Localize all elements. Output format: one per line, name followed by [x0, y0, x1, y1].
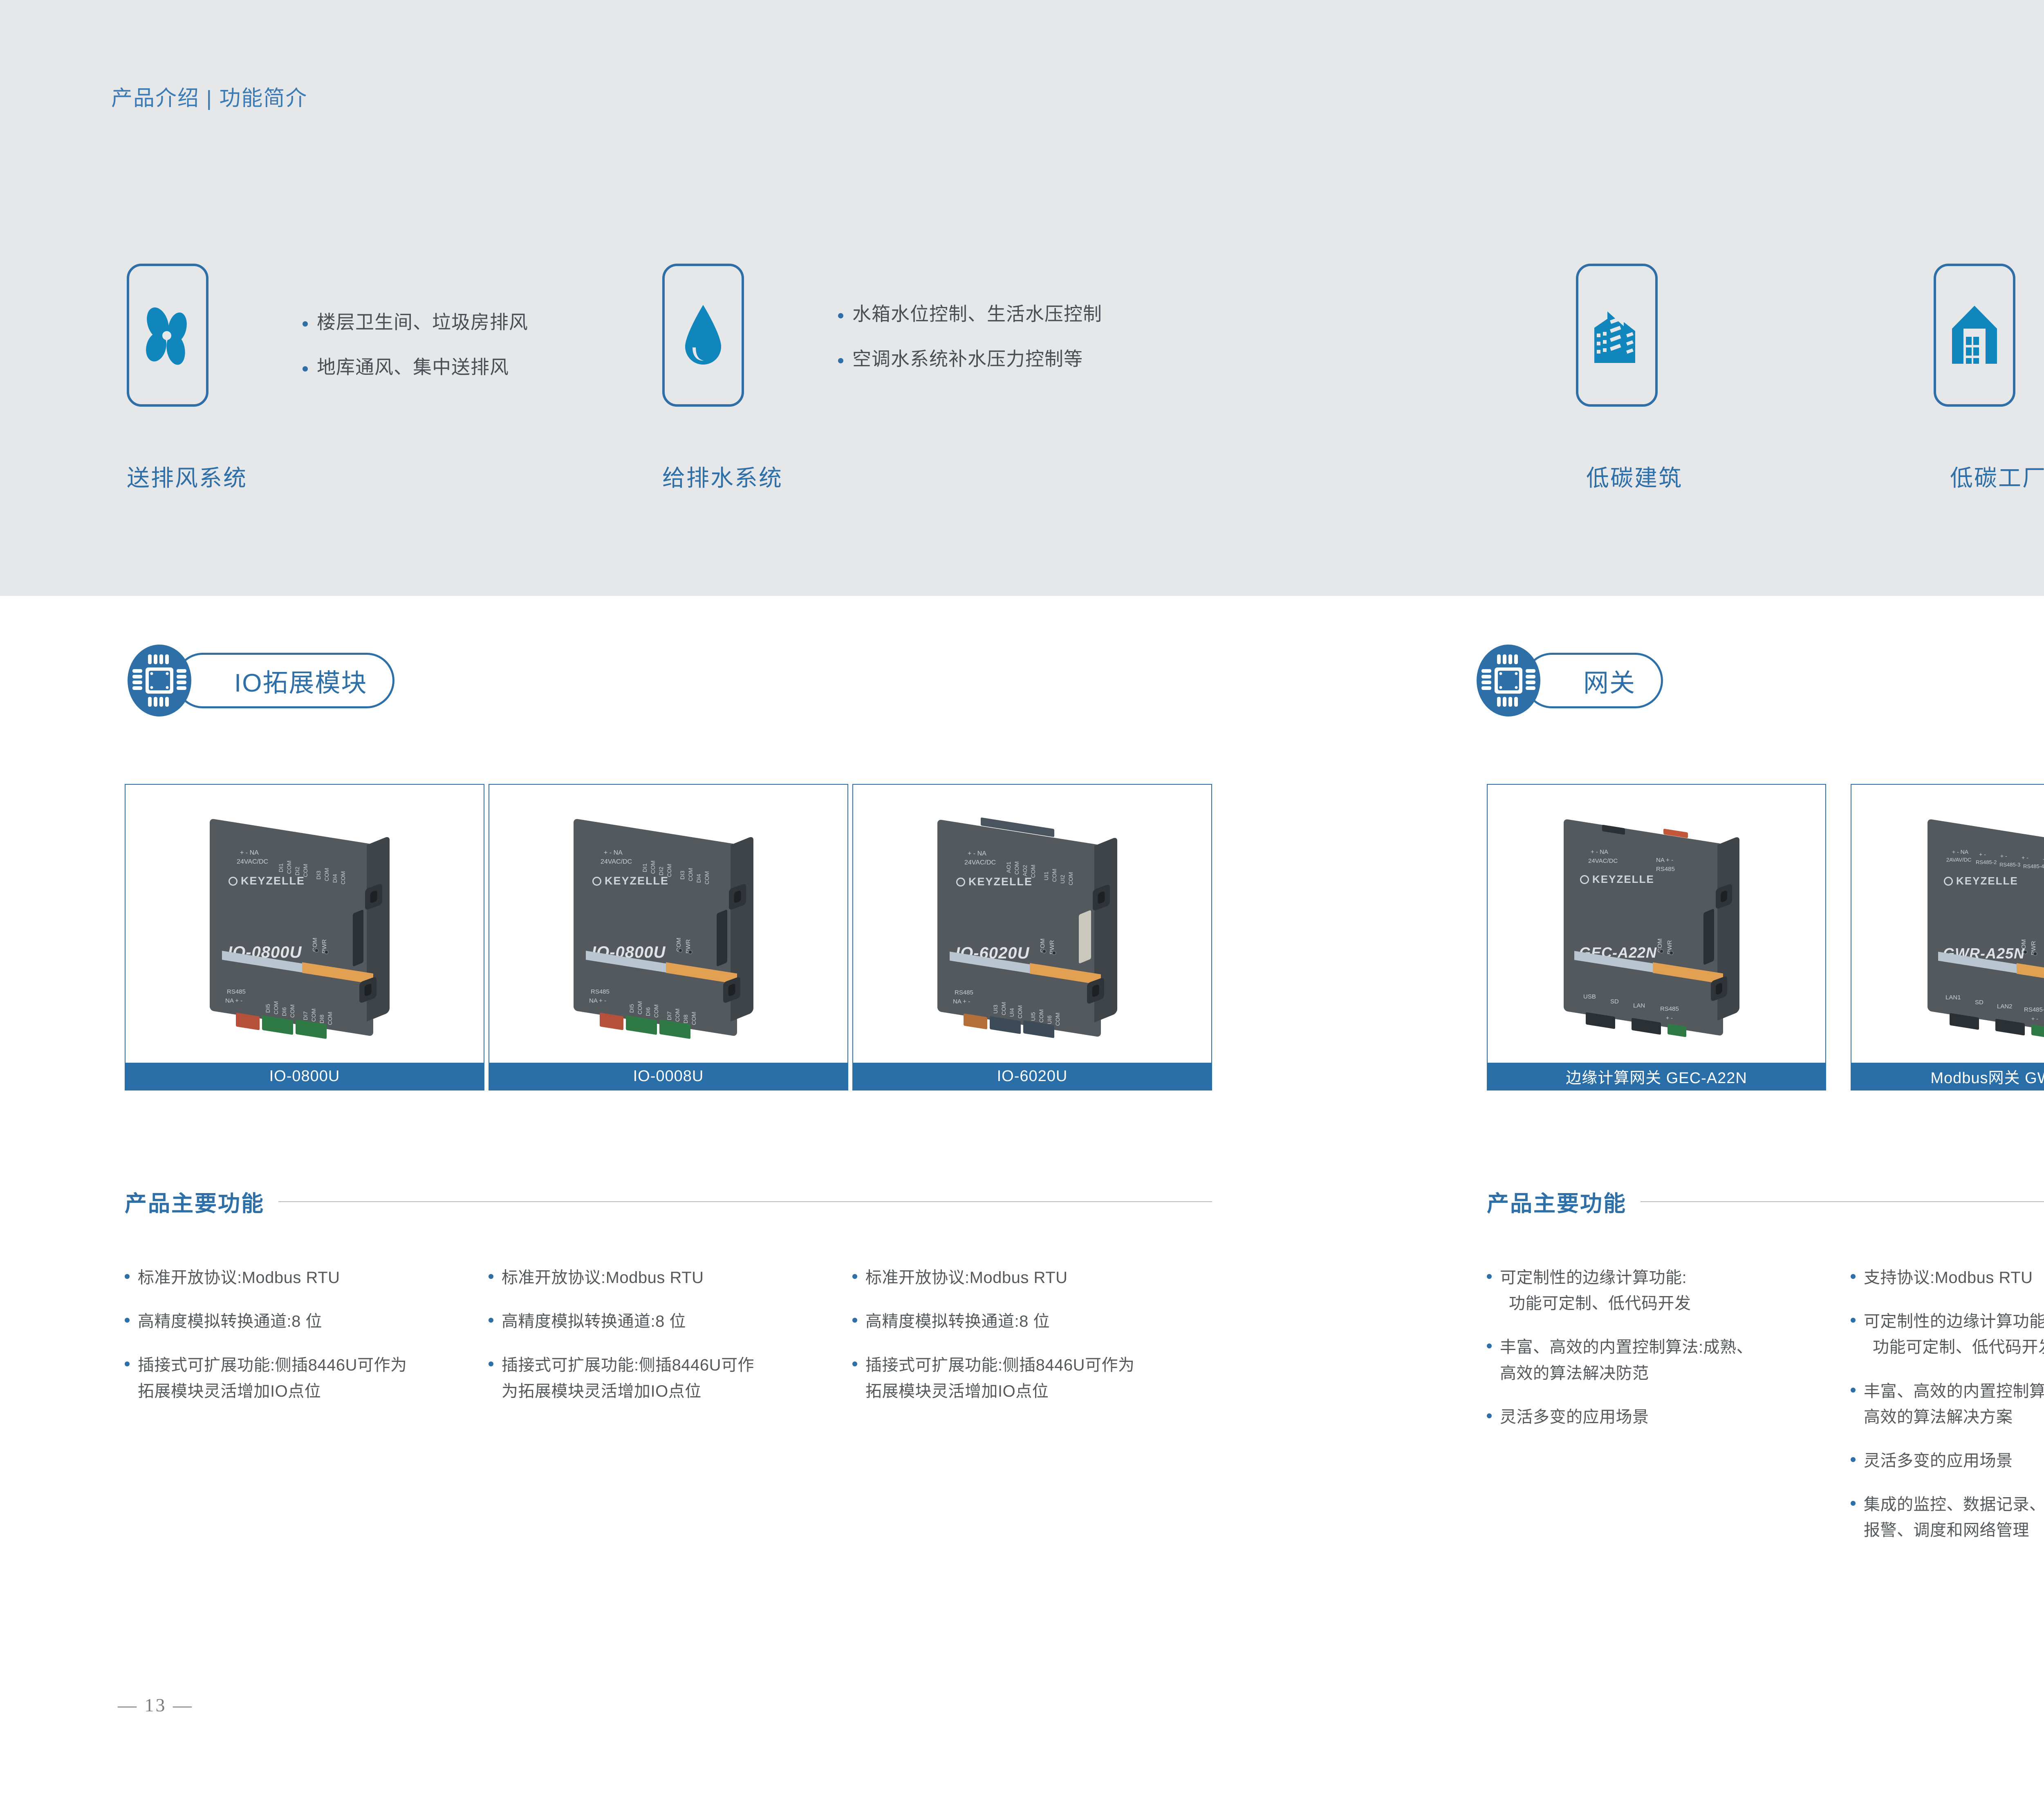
terminal-label: COM: [323, 868, 330, 881]
factory-icon: [1948, 302, 2001, 368]
terminal-label: DI7: [666, 1011, 672, 1020]
terminal-label: DI7: [302, 1011, 309, 1020]
section-title-io: IO拓展模块: [234, 662, 367, 699]
port-label-lan2: LAN2: [1997, 1003, 2013, 1010]
rs485-label-top: RS485: [1656, 866, 1675, 873]
rs485-pins: NA + -: [589, 997, 606, 1004]
bullet-text: 空调水系统补水压力控制等: [852, 347, 1083, 371]
terminal-label: AO1: [1005, 862, 1012, 873]
terminal-label: COM: [289, 1004, 296, 1018]
power-terminal-label: + - NA: [1952, 849, 1968, 855]
power-voltage-label: 24VAC/DC: [237, 858, 268, 866]
led-com: [1659, 949, 1664, 954]
bullet-dot: [125, 1361, 130, 1366]
feature-item: 标准开放协议:Modbus RTU: [852, 1265, 1196, 1291]
office-building-icon: [1586, 302, 1647, 368]
feature-item: 灵活多变的应用场景: [1851, 1448, 2044, 1474]
power-voltage-label: 24VAC/DC: [601, 858, 632, 866]
feature-line: 可定制性的边缘计算功能:: [1500, 1265, 1691, 1291]
product-photo-gec-a22n: KEYZELLE + - NA 24VAC/DC NA + - RS485 GE…: [1488, 785, 1825, 1063]
feature-item: 丰富、高效的内置控制算法:成熟、 高效的算法解决方案: [1851, 1379, 2044, 1430]
device-brand: KEYZELLE: [1580, 873, 1654, 886]
port-label-lan: LAN: [1633, 1002, 1645, 1009]
terminal-label: AO2: [1022, 865, 1028, 876]
product-label-bar: Modbus网关 GWR-A25N: [1851, 1063, 2044, 1090]
terminal-label: COM: [674, 1008, 681, 1022]
bullet-text: 楼层卫生间、垃圾房排风: [317, 311, 528, 334]
device-brand: KEYZELLE: [229, 875, 305, 887]
bullet-dot: [852, 1274, 857, 1279]
feature-column: 支持协议:Modbus RTU 可定制性的边缘计算功能: 功能可定制、低代码开发…: [1851, 1265, 2044, 1562]
product-label: 边缘计算网关 GEC-A22N: [1566, 1065, 1747, 1088]
feature-item: 标准开放协议:Modbus RTU: [125, 1265, 468, 1291]
page-number-left: — 13 —: [118, 1694, 193, 1716]
feature-column: 标准开放协议:Modbus RTU 高精度模拟转换通道:8 位 插接式可扩展功能…: [852, 1265, 1196, 1422]
running-head-left: 产品介绍 | 功能简介: [111, 81, 307, 112]
bullet-dot: [838, 358, 843, 363]
product-label: Modbus网关 GWR-A25N: [1930, 1065, 2044, 1088]
feature-item: 插接式可扩展功能:侧插8446U可作 为拓展模块灵活增加IO点位: [489, 1352, 832, 1404]
terminal-label: COM: [273, 1001, 279, 1014]
side-slot: [717, 909, 727, 967]
feature-item: 灵活多变的应用场景: [1487, 1404, 1830, 1430]
connector-green: [2031, 1024, 2044, 1038]
port-label-sd: SD: [1975, 999, 1983, 1006]
product-photo-io-0800u: KEYZELLE + - NA 24VAC/DC DI1 COM DI2 COM…: [126, 785, 484, 1063]
terminal-label: COM: [310, 1008, 317, 1022]
terminal-label: COM: [327, 1012, 333, 1025]
side-slot: [353, 909, 363, 967]
water-bullet-list: 水箱水位控制、生活水压控制 空调水系统补水压力控制等: [838, 302, 1102, 392]
rs485-4-pins: + -: [2022, 854, 2028, 861]
feature-column: 可定制性的边缘计算功能: 功能可定制、低代码开发 丰富、高效的内置控制算法:成熟…: [1487, 1265, 1830, 1448]
list-item: 楼层卫生间、垃圾房排风: [303, 311, 528, 334]
led-pwr: [324, 950, 329, 954]
port-label-rs485: RS485: [1660, 1005, 1679, 1012]
heading-rule: [1641, 1201, 2044, 1202]
feature-line: 丰富、高效的内置控制算法:成熟、: [1500, 1335, 1753, 1360]
terminal-label: DI1: [278, 863, 284, 872]
port-pins-rs485: + -: [1666, 1014, 1673, 1021]
feature-line: 高效的算法解决方案: [1864, 1404, 2044, 1430]
feature-item: 高精度模拟转换通道:8 位: [852, 1309, 1196, 1335]
rs485-pins: NA + -: [225, 997, 242, 1004]
device-brand: KEYZELLE: [592, 875, 669, 887]
terminal-label: UI5: [1030, 1012, 1036, 1021]
feature-item: 高精度模拟转换通道:8 位: [489, 1309, 832, 1335]
water-drop-icon: [679, 302, 728, 368]
terminal-label: DI2: [294, 867, 300, 875]
rs485-3-label: RS485-3: [1999, 862, 2020, 868]
bullet-dot: [1487, 1413, 1492, 1418]
rs485-4-label: RS485-4: [2023, 863, 2044, 869]
bullet-dot: [303, 366, 308, 372]
feature-line: 丰富、高效的内置控制算法:成熟、: [1864, 1379, 2044, 1404]
factory-icon-frame: [1934, 264, 2015, 407]
rs485-pins: NA + -: [953, 998, 970, 1005]
bullet-dot: [1851, 1274, 1856, 1279]
led-com: [314, 948, 319, 953]
office-building-icon-frame: [1576, 264, 1658, 407]
feature-line: 高精度模拟转换通道:8 位: [502, 1309, 686, 1335]
terminal-label: COM: [302, 864, 309, 877]
terminal-label: COM: [666, 864, 672, 877]
product-label-bar: IO-6020U: [853, 1063, 1211, 1090]
terminal-label: DI1: [641, 863, 648, 872]
rs485-2-pins: + -: [1979, 851, 1986, 858]
led-pwr: [1669, 951, 1674, 955]
rs485-label: RS485: [227, 988, 246, 995]
feature-item: 高精度模拟转换通道:8 位: [125, 1309, 468, 1335]
rs485-label: RS485: [591, 988, 610, 995]
terminal-label: COM: [637, 1001, 643, 1014]
terminal-label: UI4: [1009, 1008, 1015, 1017]
fan-icon-frame: [127, 264, 208, 407]
led-pwr: [2033, 952, 2037, 956]
terminal-label: UI1: [1043, 871, 1049, 880]
terminal-label: COM: [653, 1004, 659, 1018]
product-label: IO-0008U: [633, 1068, 704, 1085]
features-title: 产品主要功能: [1487, 1185, 1627, 1218]
list-item: 空调水系统补水压力控制等: [838, 347, 1102, 371]
terminal-label: DI3: [679, 871, 686, 880]
led-com: [678, 948, 683, 953]
section-title-gateway: 网关: [1583, 662, 1636, 699]
ventilation-caption: 送排风系统: [127, 460, 247, 493]
terminal-label: COM: [340, 871, 346, 884]
bullet-dot: [1851, 1457, 1856, 1462]
rs485-3-pins: + -: [2000, 853, 2007, 859]
bullet-dot: [1487, 1343, 1492, 1348]
terminal-label: DI2: [658, 867, 664, 875]
feature-column: 标准开放协议:Modbus RTU 高精度模拟转换通道:8 位 插接式可扩展功能…: [489, 1265, 832, 1422]
feature-column: 标准开放协议:Modbus RTU 高精度模拟转换通道:8 位 插接式可扩展功能…: [125, 1265, 468, 1422]
terminal-label: DI5: [628, 1004, 635, 1013]
terminal-label: DI8: [318, 1014, 325, 1023]
feature-line: 插接式可扩展功能:侧插8446U可作为: [865, 1352, 1134, 1378]
bullet-dot: [125, 1318, 130, 1323]
fan-icon: [140, 305, 195, 366]
feature-line: 可定制性的边缘计算功能:: [1864, 1309, 2044, 1335]
product-card[interactable]: KEYZELLE + - NA 24VAC/DC DI1 COM DI2 COM…: [125, 784, 484, 1090]
product-label-bar: IO-0800U: [126, 1063, 484, 1090]
feature-line: 高精度模拟转换通道:8 位: [865, 1309, 1050, 1335]
product-card[interactable]: KEYZELLE + - NA + - + - + - + - 2AVAV/DC…: [1851, 784, 2044, 1090]
feature-line: 插接式可扩展功能:侧插8446U可作: [502, 1352, 754, 1378]
feature-line: 支持协议:Modbus RTU: [1864, 1265, 2033, 1291]
bullet-dot: [303, 321, 308, 327]
features-heading-gateway: 产品主要功能: [1487, 1185, 2044, 1218]
bullet-dot: [489, 1318, 493, 1323]
terminal-label: COM: [650, 860, 656, 874]
feature-line: 功能可定制、低代码开发: [1864, 1335, 2044, 1360]
bullet-text: 水箱水位控制、生活水压控制: [852, 302, 1102, 326]
rs485-pins-top: NA + -: [1656, 857, 1673, 864]
section-badge-gateway: 网关: [1476, 644, 1705, 717]
led-pwr: [1052, 951, 1056, 955]
feature-item: 标准开放协议:Modbus RTU: [489, 1265, 832, 1291]
terminal-label: COM: [1017, 1005, 1023, 1019]
brochure-spread: 产品介绍 | 功能简介 产品介绍 | 功能简介 — 13 — — 14 —: [0, 0, 2044, 1798]
terminal-label: UI2: [1059, 875, 1066, 884]
water-caption: 给排水系统: [662, 460, 783, 493]
feature-line: 集成的监控、数据记录、能耗计量、: [1864, 1492, 2044, 1518]
feature-line: 拓展模块灵活增加IO点位: [138, 1379, 407, 1404]
scenario-caption-building: 低碳建筑: [1586, 460, 1683, 493]
terminal-label: COM: [1013, 861, 1020, 875]
feature-line: 标准开放协议:Modbus RTU: [502, 1265, 704, 1291]
heading-rule: [278, 1201, 1212, 1202]
port-pins-rs485-1: + -: [2031, 1015, 2038, 1022]
power-terminal-label: + - NA: [968, 850, 986, 858]
terminal-label: COM: [687, 868, 694, 881]
feature-item: 插接式可扩展功能:侧插8446U可作为 拓展模块灵活增加IO点位: [852, 1352, 1196, 1404]
port-label-sd: SD: [1610, 998, 1619, 1005]
section-pill-io: IO拓展模块: [175, 653, 394, 708]
feature-line: 标准开放协议:Modbus RTU: [865, 1265, 1068, 1291]
feature-line: 灵活多变的应用场景: [1500, 1404, 1649, 1430]
terminal-label: COM: [1030, 864, 1036, 878]
feature-item: 集成的监控、数据记录、能耗计量、 报警、调度和网络管理: [1851, 1492, 2044, 1543]
terminal-label: COM: [1067, 872, 1074, 885]
led-pwr: [688, 950, 693, 954]
list-item: 地库通风、集中送排风: [303, 356, 528, 379]
chip-icon: [1476, 644, 1553, 717]
feature-line: 插接式可扩展功能:侧插8446U可作为: [138, 1352, 407, 1378]
terminal-label: DI6: [645, 1007, 651, 1016]
bullet-dot: [1851, 1388, 1856, 1393]
power-terminal-label: + - NA: [604, 849, 623, 857]
terminal-label: DI5: [264, 1004, 271, 1013]
feature-line: 高效的算法解决防范: [1500, 1361, 1753, 1386]
power-voltage-label: 2AVAV/DC: [1946, 857, 1971, 863]
bullet-text: 地库通风、集中送排风: [317, 356, 509, 379]
product-photo-io-0008u: KEYZELLE + - NA 24VAC/DC DI1 COM DI2 COM…: [489, 785, 847, 1063]
side-slot: [1703, 909, 1714, 965]
ventilation-bullet-list: 楼层卫生间、垃圾房排风 地库通风、集中送排风: [303, 311, 528, 400]
scenario-caption-factory: 低碳工厂: [1950, 460, 2044, 493]
bullet-dot: [852, 1361, 857, 1366]
feature-item: 可定制性的边缘计算功能: 功能可定制、低代码开发: [1851, 1309, 2044, 1360]
feature-line: 灵活多变的应用场景: [1864, 1448, 2013, 1474]
bullet-dot: [489, 1361, 493, 1366]
bullet-dot: [1851, 1318, 1856, 1323]
feature-line: 拓展模块灵活增加IO点位: [865, 1379, 1134, 1404]
feature-item: 插接式可扩展功能:侧插8446U可作为 拓展模块灵活增加IO点位: [125, 1352, 468, 1404]
feature-item: 支持协议:Modbus RTU: [1851, 1265, 2044, 1291]
terminal-label: UI6: [1046, 1015, 1053, 1024]
bullet-dot: [838, 313, 843, 318]
terminal-label: UI3: [992, 1005, 999, 1014]
features-heading-io: 产品主要功能: [125, 1185, 1212, 1218]
port-label-usb: USB: [1583, 993, 1596, 1000]
terminal-label: COM: [1000, 1002, 1007, 1015]
product-label: IO-6020U: [997, 1068, 1068, 1085]
feature-line: 报警、调度和网络管理: [1864, 1518, 2044, 1543]
bullet-dot: [125, 1274, 130, 1279]
product-card[interactable]: KEYZELLE + - NA 24VAC/DC AO1 COM AO2 COM…: [852, 784, 1212, 1090]
led-com: [1042, 949, 1047, 954]
power-terminal-label: + - NA: [1591, 849, 1608, 855]
power-voltage-label: 24VAC/DC: [964, 859, 996, 867]
bullet-dot: [1487, 1274, 1492, 1279]
terminal-label: COM: [286, 860, 292, 874]
feature-item: 丰富、高效的内置控制算法:成熟、 高效的算法解决防范: [1487, 1335, 1830, 1386]
list-item: 水箱水位控制、生活水压控制: [838, 302, 1102, 326]
product-label-bar: 边缘计算网关 GEC-A22N: [1488, 1063, 1825, 1090]
power-terminal-label: + - NA: [240, 849, 259, 857]
led-com: [2023, 950, 2028, 954]
terminal-label: COM: [690, 1012, 697, 1025]
device-brand: KEYZELLE: [1944, 875, 2018, 887]
feature-line: 标准开放协议:Modbus RTU: [138, 1265, 340, 1291]
product-label-bar: IO-0008U: [489, 1063, 847, 1090]
rs485-2-label: RS485-2: [1976, 859, 1997, 865]
feature-line: 为拓展模块灵活增加IO点位: [502, 1379, 754, 1404]
terminal-label: DI4: [695, 874, 702, 883]
power-voltage-label: 24VAC/DC: [1588, 858, 1618, 864]
port-label-lan1: LAN1: [1945, 994, 1961, 1001]
product-photo-gwr-a25n: KEYZELLE + - NA + - + - + - + - 2AVAV/DC…: [1851, 785, 2044, 1063]
chip-icon: [127, 644, 204, 717]
feature-item: 可定制性的边缘计算功能: 功能可定制、低代码开发: [1487, 1265, 1830, 1317]
section-badge-io: IO拓展模块: [127, 644, 421, 717]
rs485-label: RS485: [955, 989, 973, 996]
product-photo-io-6020u: KEYZELLE + - NA 24VAC/DC AO1 COM AO2 COM…: [853, 785, 1211, 1063]
feature-line: 高精度模拟转换通道:8 位: [138, 1309, 322, 1335]
product-label: IO-0800U: [269, 1068, 340, 1085]
side-module-slot: [1079, 910, 1091, 964]
product-card[interactable]: KEYZELLE + - NA 24VAC/DC NA + - RS485 GE…: [1487, 784, 1826, 1090]
bullet-dot: [489, 1274, 493, 1279]
features-title: 产品主要功能: [125, 1185, 264, 1218]
device-brand: KEYZELLE: [956, 875, 1033, 888]
terminal-label: DI3: [315, 871, 322, 880]
terminal-label: DI8: [682, 1014, 689, 1023]
terminal-label: DI4: [332, 874, 338, 883]
product-card[interactable]: KEYZELLE + - NA 24VAC/DC DI1 COM DI2 COM…: [489, 784, 848, 1090]
terminal-label: COM: [1038, 1009, 1044, 1023]
terminal-label: COM: [704, 871, 710, 884]
terminal-label: COM: [1051, 869, 1058, 882]
bullet-dot: [852, 1318, 857, 1323]
terminal-label: COM: [1054, 1012, 1061, 1026]
terminal-label: DI6: [281, 1007, 287, 1016]
port-label-rs485-1: RS485-1: [2024, 1006, 2044, 1013]
water-drop-icon-frame: [662, 264, 744, 407]
feature-line: 功能可定制、低代码开发: [1500, 1291, 1691, 1317]
bullet-dot: [1851, 1501, 1856, 1506]
